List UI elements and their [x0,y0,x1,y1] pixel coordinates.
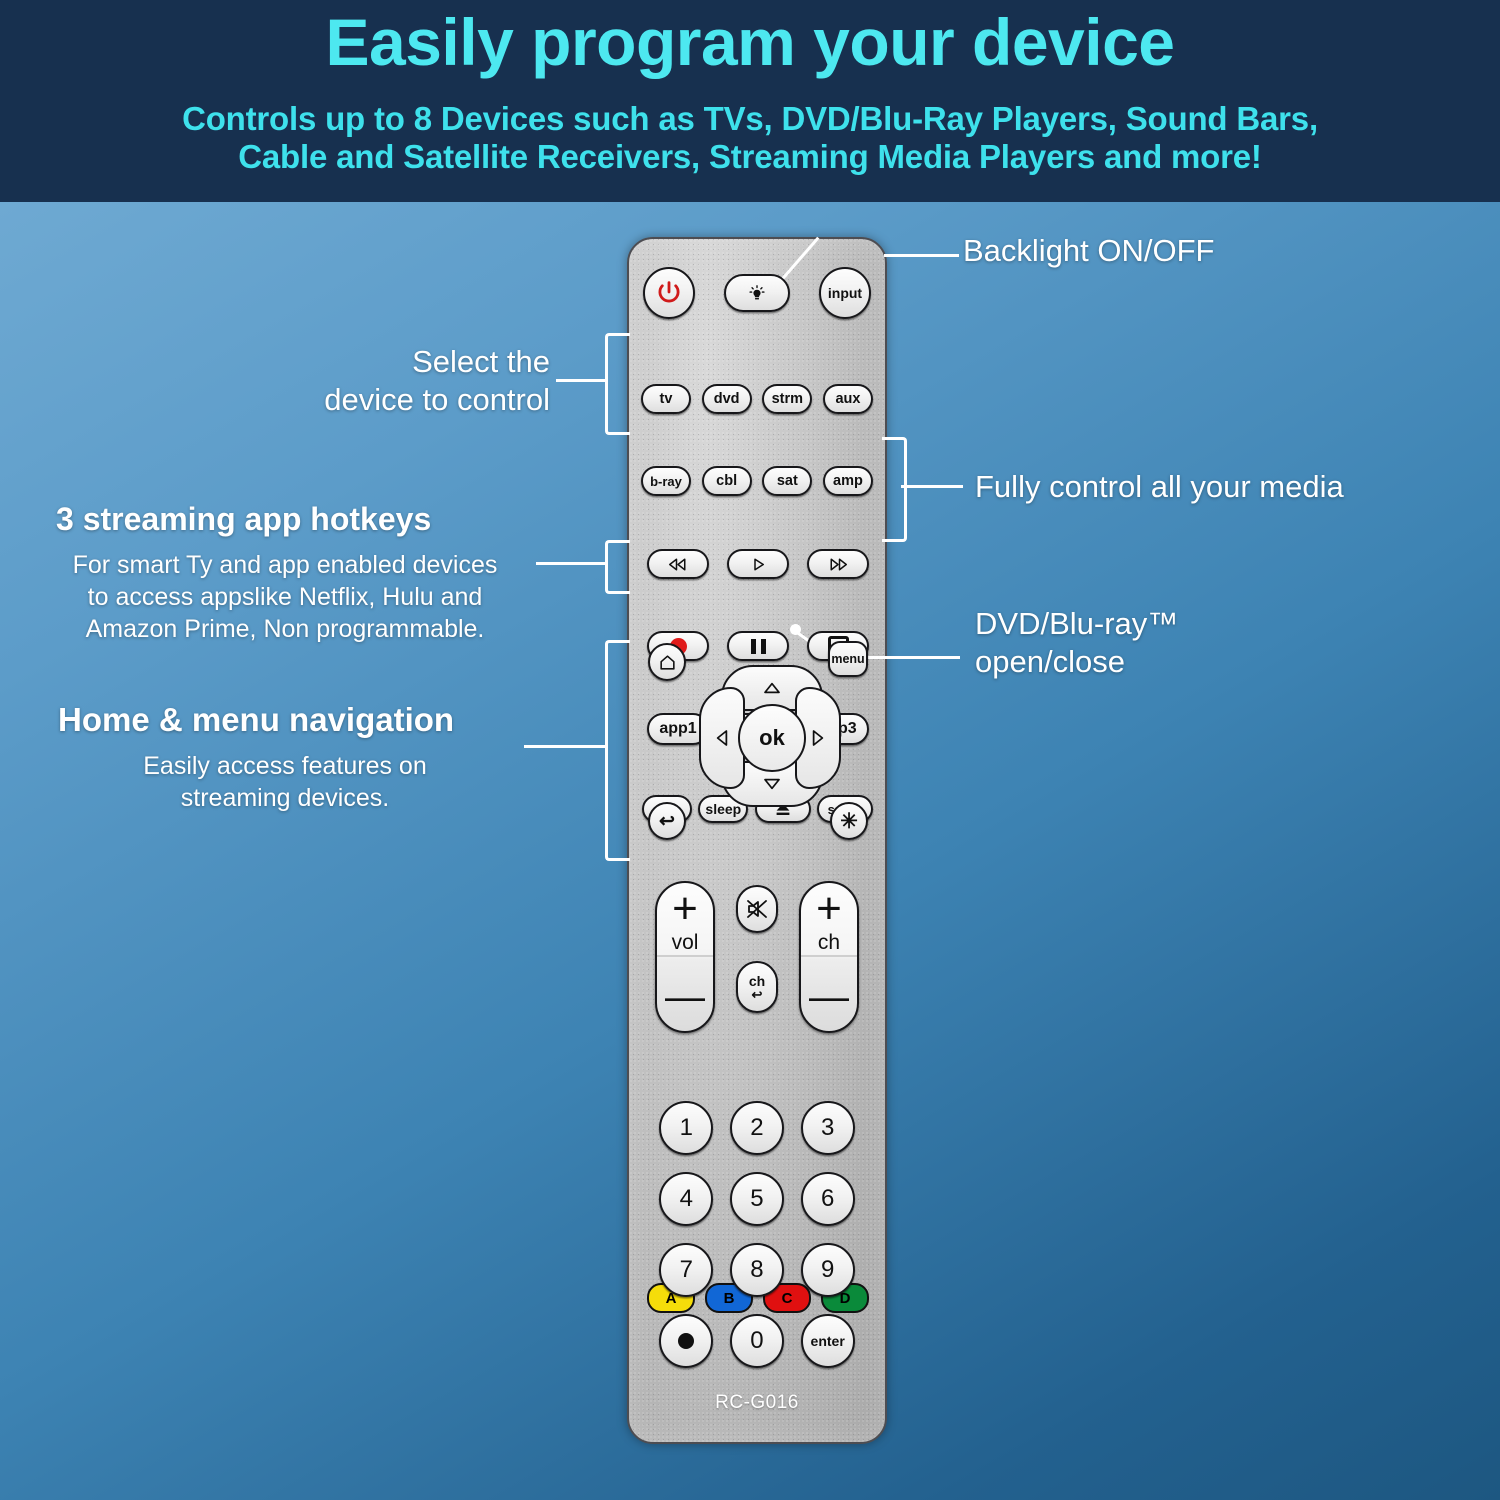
channel-rocker[interactable]: + ch — [799,881,859,1033]
device-button-sat[interactable]: sat [762,466,812,496]
lightbulb-icon [746,282,768,304]
header-subtitle-line1: Controls up to 8 Devices such as TVs, DV… [0,100,1500,138]
device-button-amp[interactable]: amp [823,466,873,496]
key-5[interactable]: 5 [730,1172,784,1226]
media-row-1 [647,549,869,579]
back-button[interactable]: ↩ [648,802,686,840]
fast-forward-button[interactable] [807,549,869,579]
callout-navigation: Home & menu navigation Easily access fea… [40,700,530,814]
callout-media-text: Fully control all your media [975,468,1344,506]
home-icon [658,653,677,672]
numeric-keypad: 1 2 3 4 5 6 7 8 9 0 enter [651,1101,863,1368]
key-2[interactable]: 2 [730,1101,784,1155]
power-button[interactable] [643,267,695,319]
ok-button[interactable]: ok [738,704,806,772]
fast-forward-icon [826,557,850,572]
device-row-2: b-ray cbl sat amp [641,466,873,496]
callout-hotkeys-title: 3 streaming app hotkeys [40,500,530,539]
navigation-cluster: menu [642,637,872,842]
key-7[interactable]: 7 [659,1243,713,1297]
callout-select-device-line1: Select the [120,343,550,381]
arrow-right-icon [811,727,825,749]
rewind-icon [666,557,690,572]
callout-hotkeys-line1: For smart Ty and app enabled devices [40,549,530,581]
arrow-left-icon [715,727,729,749]
device-button-dvd[interactable]: dvd [702,384,752,414]
navigation-leader-line [524,745,608,748]
key-4[interactable]: 4 [659,1172,713,1226]
callout-open-close: DVD/Blu-ray™ open/close [975,605,1178,681]
callout-navigation-line2: streaming devices. [40,782,530,814]
device-button-tv[interactable]: tv [641,384,691,414]
backlight-leader-line [884,254,959,257]
play-button[interactable] [727,549,789,579]
media-leader-line [901,485,963,488]
key-8[interactable]: 8 [730,1243,784,1297]
model-number: RC-G016 [629,1392,885,1414]
mute-icon [745,898,769,920]
volume-channel-cluster: + vol — ch ↩ + ch — [629,881,885,1041]
callout-backlight: Backlight ON/OFF [963,232,1215,270]
callout-backlight-text: Backlight ON/OFF [963,232,1215,270]
key-6[interactable]: 6 [801,1172,855,1226]
header-subtitle-line2: Cable and Satellite Receivers, Streaming… [0,138,1500,176]
dot-icon [678,1333,694,1349]
header-subtitle: Controls up to 8 Devices such as TVs, DV… [0,100,1500,177]
dpad: ok [699,665,841,807]
callout-media: Fully control all your media [975,468,1344,506]
rocker-divider [657,955,713,957]
page-title: Easily program your device [0,8,1500,77]
key-0[interactable]: 0 [730,1314,784,1368]
app-hotkeys-bracket [605,540,630,594]
infographic-stage: Easily program your device Controls up t… [0,0,1500,1500]
app-hotkeys-leader-line [536,562,608,565]
callout-hotkeys-line3: Amazon Prime, Non programmable. [40,613,530,645]
key-9[interactable]: 9 [801,1243,855,1297]
callout-open-close-line1: DVD/Blu-ray™ [975,605,1178,643]
device-button-strm[interactable]: strm [762,384,812,414]
star-button[interactable]: ✳ [830,802,868,840]
media-bracket [882,437,907,542]
ch-return-sub: ↩ [752,988,763,1001]
key-dot[interactable] [659,1314,713,1368]
volume-down[interactable]: — [657,987,713,1007]
play-icon [746,557,770,572]
ch-return-label: ch [749,974,765,988]
volume-label: vol [657,931,713,955]
mute-button[interactable] [736,885,778,933]
key-3[interactable]: 3 [801,1101,855,1155]
navigation-bracket [605,640,630,861]
key-enter[interactable]: enter [801,1314,855,1368]
arrow-up-icon [761,681,783,695]
device-button-aux[interactable]: aux [823,384,873,414]
device-row-1: tv dvd strm aux [641,384,873,414]
select-device-bracket [605,333,630,435]
callout-select-device: Select the device to control [120,343,550,419]
top-button-row: input [643,267,871,319]
callout-navigation-title: Home & menu navigation [40,700,530,740]
remote-control-device: input tv dvd strm aux b-ray cbl sat amp [627,237,887,1444]
rewind-button[interactable] [647,549,709,579]
callout-hotkeys: 3 streaming app hotkeys For smart Ty and… [40,500,530,645]
home-button[interactable] [648,643,686,681]
rocker-divider [801,955,857,957]
backlight-button[interactable] [724,274,790,312]
key-1[interactable]: 1 [659,1101,713,1155]
channel-return-button[interactable]: ch ↩ [736,961,778,1013]
input-button[interactable]: input [819,267,871,319]
arrow-down-icon [761,777,783,791]
callout-navigation-line1: Easily access features on [40,750,530,782]
power-icon [656,280,682,306]
callout-select-device-line2: device to control [120,381,550,419]
volume-up[interactable]: + [657,887,713,931]
channel-down[interactable]: — [801,987,857,1007]
device-button-bray[interactable]: b-ray [641,466,691,496]
select-device-leader-line [556,379,608,382]
channel-up[interactable]: + [801,887,857,931]
callout-hotkeys-line2: to access appslike Netflix, Hulu and [40,581,530,613]
callout-open-close-line2: open/close [975,643,1178,681]
channel-label: ch [801,931,857,955]
volume-rocker[interactable]: + vol — [655,881,715,1033]
device-button-cbl[interactable]: cbl [702,466,752,496]
header-banner: Easily program your device Controls up t… [0,0,1500,202]
